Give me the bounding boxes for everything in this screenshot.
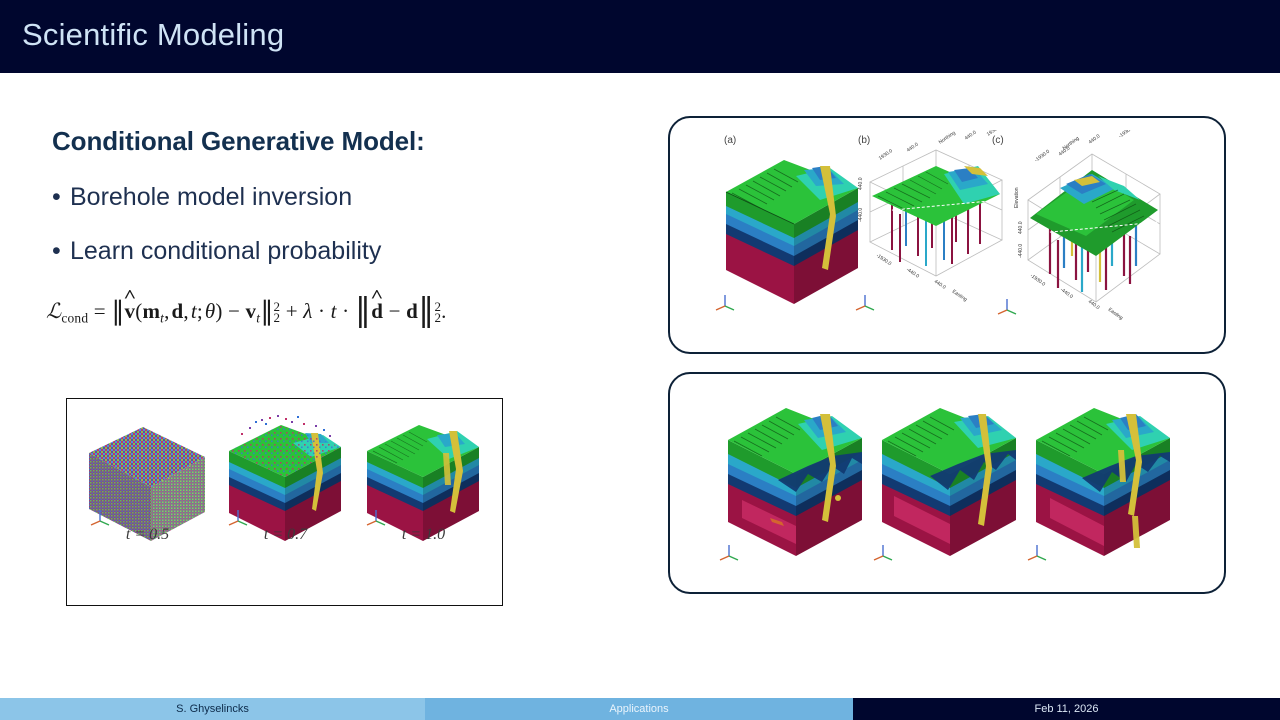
formula-data: d [172,299,184,323]
formula-dot-1: · [318,299,325,323]
svg-text:440.0: 440.0 [1088,133,1102,145]
svg-text:-440.0: -440.0 [1059,287,1074,300]
axis-label-northing-b: Northing [938,130,957,146]
borehole-conditioning-panel: (a) (b) [668,116,1226,354]
list-item-label: Borehole model inversion [70,183,352,211]
formula-data-2: d [406,299,418,323]
formula-equals: = [94,299,106,323]
axis-label-easting-b: Easting [951,289,968,303]
formula-close-paren: ) [215,299,222,323]
footer-date: Feb 11, 2026 [853,698,1280,720]
section-heading: Conditional Generative Model: [52,126,425,157]
slide-footer: S. Ghyselincks Applications Feb 11, 2026 [0,698,1280,720]
formula-minus-2: − [389,299,401,323]
formula-dot-2: · [342,299,349,323]
formula-data-hat: d [371,299,383,323]
generative-denoising-figure: t = 0.5 [66,398,503,606]
surface-boreholes-c: Northing 440.0 -1930.0 -1930.0 440.0 Ele… [988,130,1188,320]
svg-text:-1930.0: -1930.0 [1029,273,1046,288]
list-item-label: Learn conditional probability [70,237,381,265]
formula-minus-1: − [228,299,240,323]
list-item: •Borehole model inversion [52,183,352,212]
page-title: Scientific Modeling [22,17,284,53]
conditional-realizations-panel [668,372,1226,594]
formula-lambda: λ [303,299,312,323]
svg-text:440.0: 440.0 [1087,299,1101,311]
formula-loss-subscript: cond [61,310,88,325]
svg-text:-1930.0: -1930.0 [875,253,893,268]
norm-close: ∥ [260,297,273,327]
axis-label-elevation-c: Elevation [1014,187,1020,208]
svg-text:440.0: 440.0 [906,142,920,154]
formula-loss-symbol: ℒ [46,299,61,323]
norm-index: 2 [274,312,281,323]
denoise-panel-noise: t = 0.5 [81,413,214,553]
axis-label-easting-c: Easting [1107,307,1124,320]
formula-velocity-hat: v [125,299,136,323]
footer-section: Applications [425,698,853,720]
axis-gizmo-icon [870,540,896,566]
svg-text:-1930.0: -1930.0 [1034,149,1051,164]
formula-plus: + [286,299,298,323]
bullet-marker: • [52,183,70,212]
axis-gizmo-icon [1024,540,1050,566]
svg-text:1930.0: 1930.0 [878,148,894,162]
subfigure-label-a: (a) [724,135,736,146]
axis-label-elevation-b: 440.0 [858,177,864,190]
svg-text:440.0: 440.0 [964,130,978,142]
formula-model: m [142,299,160,323]
bullet-marker: • [52,237,70,266]
svg-text:440.0: 440.0 [1018,221,1024,234]
denoise-panel-clean: t = 1.0 [357,413,490,553]
denoise-step-label: t = 0.5 [81,526,214,544]
norm2-index: 2 [434,312,441,323]
formula-comma-2: , [183,299,188,323]
slide-title-bar: Scientific Modeling [0,0,1280,73]
svg-text:-440.0: -440.0 [1018,244,1024,258]
axis-gizmo-icon [852,290,878,316]
denoise-panel-partial: t = 0.7 [219,413,352,553]
svg-text:-440.0: -440.0 [905,267,920,280]
formula-period: . [441,299,446,323]
norm2-exponent-group: 22 [434,301,441,324]
loss-formula: ℒcond = ∥v(mt, d, t; θ) − vt∥22 + λ · t … [46,288,447,327]
norm2-close: ∥ [418,291,434,330]
axis-gizmo-icon [712,290,738,316]
svg-text:-1930.0: -1930.0 [1118,130,1135,140]
axis-gizmo-icon [994,294,1020,320]
denoise-step-label: t = 1.0 [357,526,490,544]
formula-comma-1: , [164,299,169,323]
denoise-step-label: t = 0.7 [219,526,352,544]
norm-exponent-group: 22 [274,301,281,324]
svg-text:440.0: 440.0 [933,279,947,291]
footer-author: S. Ghyselincks [0,698,425,720]
formula-velocity: v [246,299,257,323]
list-item: •Learn conditional probability [52,237,381,266]
svg-text:-440.0: -440.0 [858,208,864,222]
formula-semicolon: ; [197,299,203,323]
axis-gizmo-icon [716,540,742,566]
norm2-open: ∥ [355,291,371,330]
formula-time-2: t [331,299,337,323]
formula-theta: θ [205,299,216,323]
